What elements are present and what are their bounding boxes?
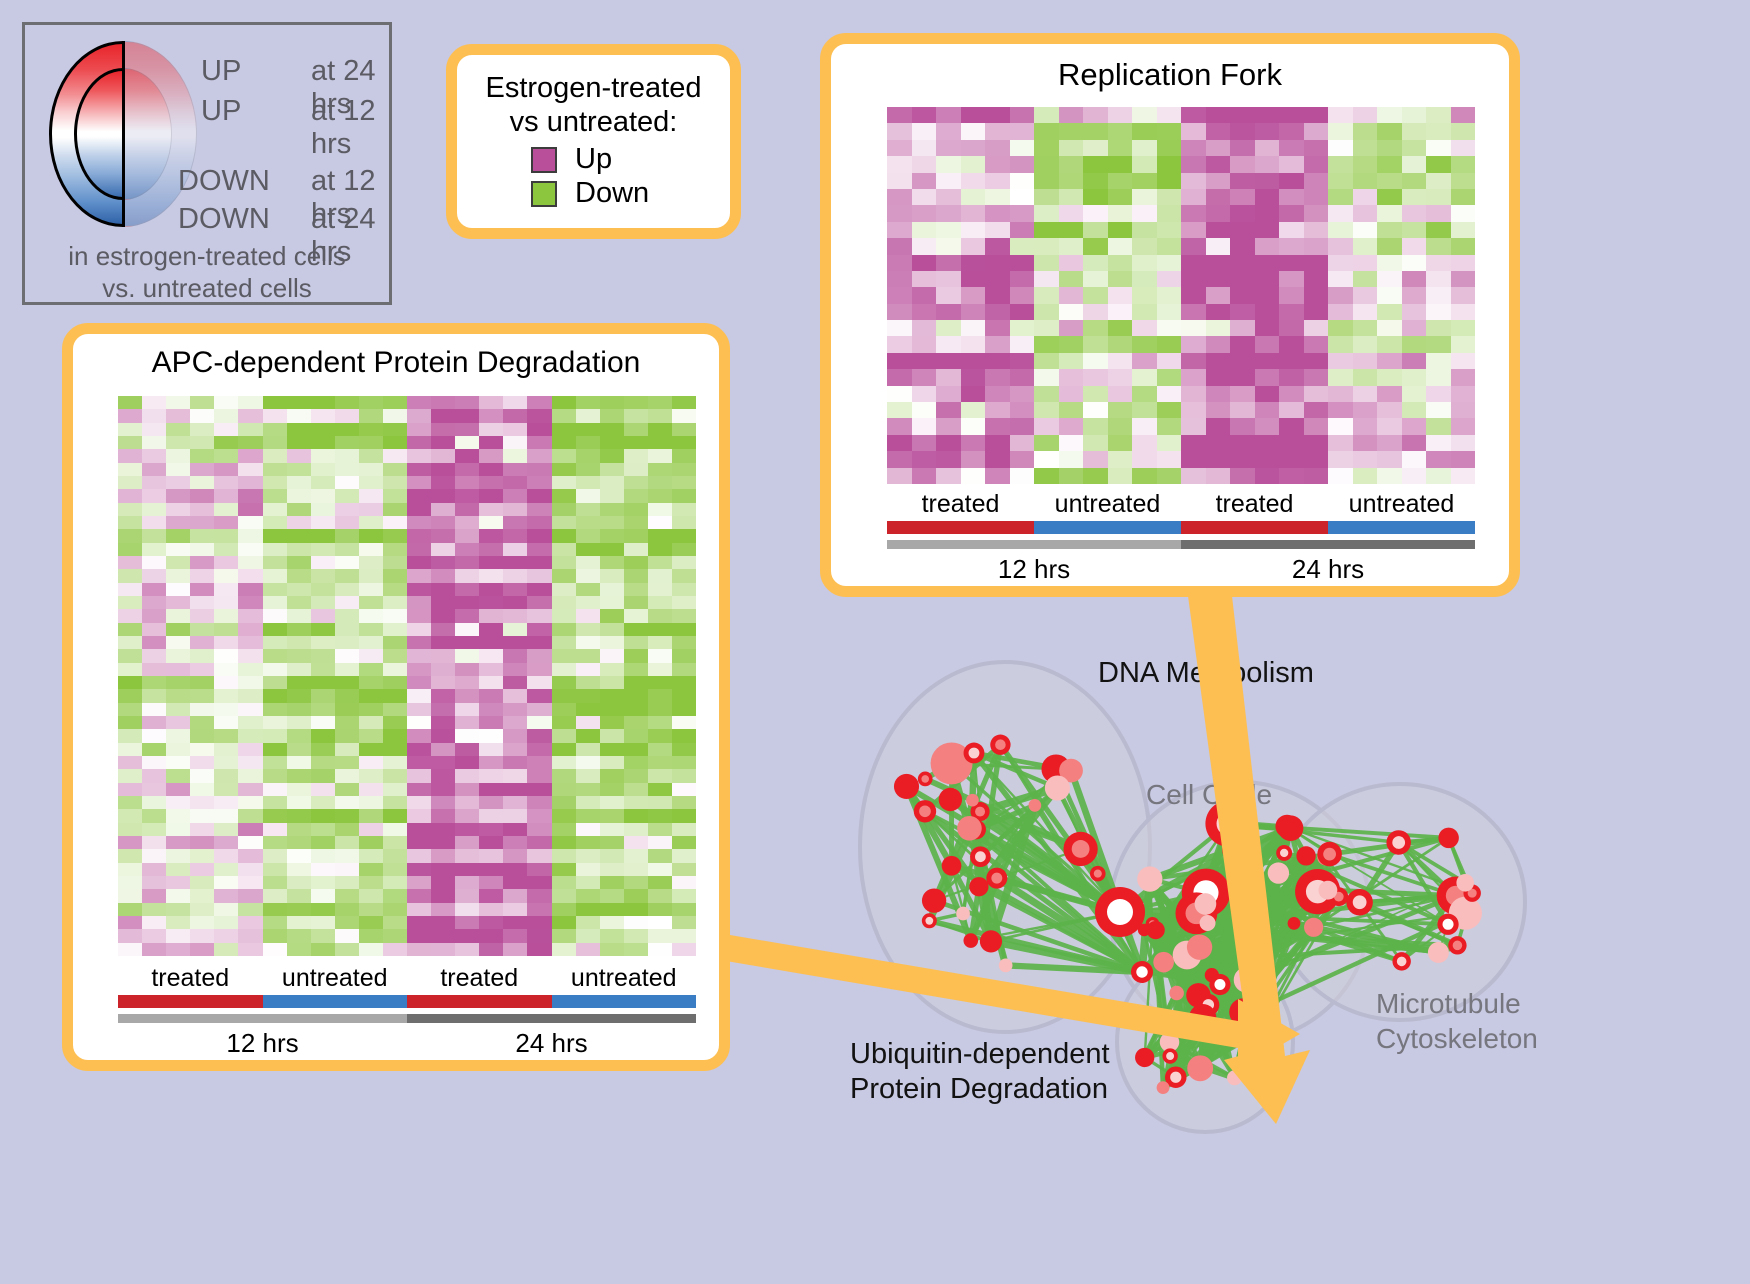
figure-canvas: UP at 24 hrs UP at 12 hrs DOWN at 12 hrs… [0, 0, 1750, 1279]
arrow-apc [726, 935, 1300, 1070]
connector-arrows [0, 0, 1750, 1279]
